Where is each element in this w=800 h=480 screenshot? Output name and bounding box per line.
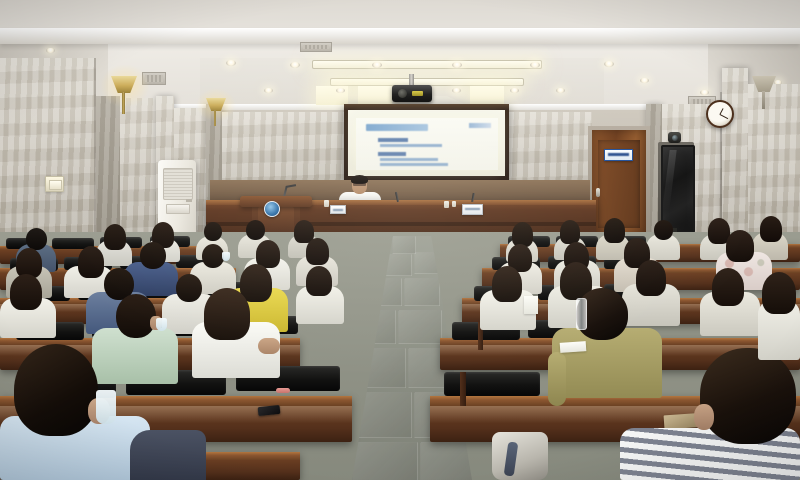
audience-head	[78, 246, 104, 278]
sconce-stem	[214, 110, 216, 126]
air-conditioner-led	[186, 199, 192, 202]
table-nameplate	[462, 204, 483, 215]
projector-badge	[412, 91, 423, 96]
ceiling-downlight	[372, 62, 382, 68]
ceiling-panel-lamp	[358, 86, 392, 105]
ceiling-vent	[300, 42, 332, 52]
lectern-emblem-icon	[264, 201, 280, 217]
audience-head	[202, 244, 224, 268]
audience-head	[26, 228, 47, 250]
drinking-cup	[444, 201, 449, 208]
ceiling-panel-lamp	[470, 86, 504, 105]
slide-body-line	[380, 144, 442, 147]
face-mask	[222, 252, 230, 261]
ceiling-outer-lip	[0, 28, 800, 44]
wall-panel-left	[0, 58, 96, 248]
audience-head	[10, 274, 42, 310]
paper-sheet	[560, 341, 587, 353]
drinking-cup	[452, 201, 456, 207]
ceiling-troffer-light	[312, 60, 542, 69]
projected-slide	[356, 118, 498, 170]
face-mask	[96, 390, 116, 424]
wall-clock-icon	[706, 100, 734, 128]
audience-head	[492, 266, 522, 302]
backpack[interactable]	[492, 432, 548, 480]
audience-head-foreground	[14, 344, 98, 436]
door-sign	[604, 149, 633, 161]
audience-head	[512, 222, 533, 247]
desk-small-object	[276, 388, 290, 393]
ceiling-downlight	[604, 61, 614, 67]
ceiling-downlight	[336, 88, 345, 93]
camera-lens-icon	[672, 135, 678, 141]
ceiling-downlight	[46, 48, 55, 53]
audience-head	[306, 266, 332, 296]
ceiling-downlight	[452, 88, 461, 93]
audience-head	[762, 272, 796, 314]
audience-head	[604, 218, 625, 243]
sconce-stem	[122, 92, 125, 114]
ceiling-downlight	[700, 90, 709, 95]
air-conditioner-control-panel[interactable]	[166, 204, 190, 214]
ceiling-downlight	[290, 62, 300, 68]
audience-head	[140, 242, 166, 269]
water-bottle[interactable]	[576, 298, 587, 330]
ceiling-downlight	[556, 88, 565, 93]
air-conditioner-grille	[163, 168, 193, 200]
door-handle[interactable]	[596, 188, 600, 197]
seat-back	[444, 372, 540, 396]
projector-lens-icon	[398, 89, 407, 98]
ceiling-downlight	[640, 78, 649, 83]
audience-head-foreground	[700, 348, 796, 444]
presenter-glasses-icon	[353, 183, 366, 186]
drinking-cup	[324, 200, 329, 207]
wall-panel	[120, 98, 156, 248]
audience-head	[246, 220, 265, 240]
audience-hand	[258, 338, 280, 354]
slide-logo	[469, 123, 491, 128]
sconce-stem	[762, 91, 765, 109]
conference-room-photo	[0, 0, 800, 480]
audience-ear	[694, 404, 714, 430]
slide-body-line	[380, 158, 438, 161]
slide-heading-1	[378, 138, 408, 142]
audience-head	[712, 268, 744, 306]
ceiling-downlight	[510, 88, 519, 93]
light-switch-plate[interactable]	[45, 176, 64, 192]
audience-head	[204, 222, 222, 241]
audience-arm	[548, 352, 566, 406]
ceiling-downlight	[452, 62, 462, 68]
audience-head	[176, 274, 202, 302]
audience-head	[306, 238, 329, 265]
face-mask	[156, 318, 167, 331]
paper-sheet	[524, 296, 538, 314]
chair-leg	[460, 372, 466, 406]
audience-head	[116, 294, 156, 338]
audience-head	[204, 288, 250, 340]
audience-arm	[130, 430, 206, 480]
audience-head	[636, 260, 666, 296]
audience-head	[654, 220, 673, 240]
ceiling-downlight	[530, 62, 540, 68]
audience-head	[726, 230, 754, 262]
slide-title-bar	[366, 124, 428, 131]
slide-heading-2	[378, 152, 406, 156]
clock-minute-hand	[720, 114, 728, 119]
audience-head	[240, 264, 272, 302]
audience-head	[560, 220, 580, 244]
audience-head	[760, 216, 782, 242]
ceiling-downlight	[226, 60, 236, 66]
audience-head	[104, 224, 126, 250]
slide-body-line	[380, 163, 448, 166]
table-nameplate	[330, 205, 346, 214]
ceiling-downlight	[264, 88, 273, 93]
